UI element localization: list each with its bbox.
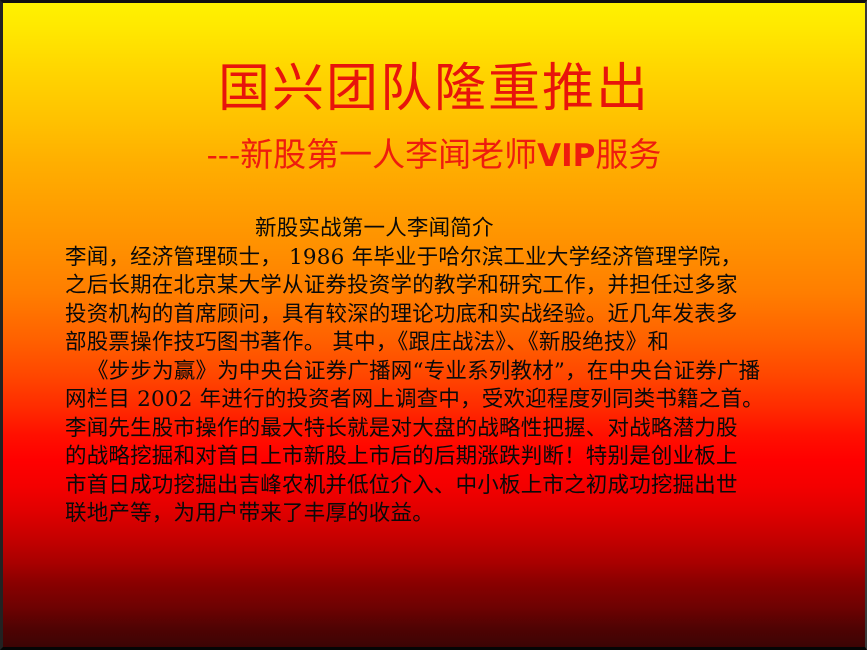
body-line-1: 李闻，经济管理硕士， 1986 年毕业于哈尔滨工业大学经济管理学院， [65, 244, 843, 273]
body-line-7: 李闻先生股市操作的最大特长就是对大盘的战略性把握、对战略潜力股 [65, 415, 843, 444]
body-line-10: 联地产等，为用户带来了丰厚的收益。 [65, 500, 843, 529]
slide-subtitle: ---新股第一人李闻老师VIP服务 [3, 135, 865, 175]
body-line-5: 《步步为赢》为中央台证券广播网“专业系列教材”，在中央台证券广播 [65, 358, 843, 387]
body-line-3: 投资机构的首席顾问，具有较深的理论功底和实战经验。近几年发表多 [65, 301, 843, 330]
body-line-6: 网栏目 2002 年进行的投资者网上调查中，受欢迎程度列同类书籍之首。 [65, 386, 843, 415]
slide-frame: 国兴团队隆重推出 ---新股第一人李闻老师VIP服务 新股实战第一人李闻简介 李… [0, 0, 867, 650]
body-heading: 新股实战第一人李闻简介 [65, 215, 843, 244]
body-line-2: 之后长期在北京某大学从证券投资学的教学和研究工作，并担任过多家 [65, 272, 843, 301]
body-line-8: 的战略挖掘和对首日上市新股上市后的后期涨跌判断！特别是创业板上 [65, 443, 843, 472]
body-text-block: 新股实战第一人李闻简介 李闻，经济管理硕士， 1986 年毕业于哈尔滨工业大学经… [65, 215, 843, 529]
title-block: 国兴团队隆重推出 ---新股第一人李闻老师VIP服务 [3, 61, 865, 175]
body-line-4: 部股票操作技巧图书著作。 其中，《跟庄战法》、《新股绝技》和 [65, 329, 843, 358]
page-title: 国兴团队隆重推出 [3, 61, 865, 117]
subtitle-prefix-text: ---新股第一人李闻老师 [207, 135, 537, 174]
presentation-slide: 国兴团队隆重推出 ---新股第一人李闻老师VIP服务 新股实战第一人李闻简介 李… [0, 0, 867, 652]
subtitle-vip-text: VIP [537, 138, 595, 174]
body-line-9: 市首日成功挖掘出吉峰农机并低位介入、中小板上市之初成功挖掘出世 [65, 472, 843, 501]
subtitle-suffix-text: 服务 [595, 135, 661, 174]
slide-background-gradient: 国兴团队隆重推出 ---新股第一人李闻老师VIP服务 新股实战第一人李闻简介 李… [3, 3, 865, 647]
